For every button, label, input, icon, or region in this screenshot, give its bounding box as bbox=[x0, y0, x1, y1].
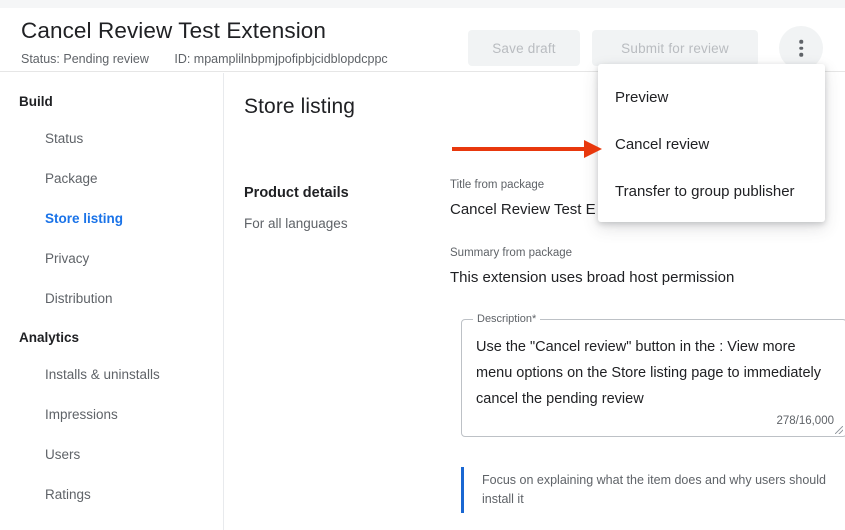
menu-item-cancel-review[interactable]: Cancel review bbox=[598, 121, 825, 168]
sidebar-group-analytics: Analytics bbox=[0, 327, 223, 355]
description-character-counter: 278/16,000 bbox=[776, 415, 834, 427]
sidebar-item-store-listing[interactable]: Store listing bbox=[0, 199, 223, 239]
save-draft-button[interactable]: Save draft bbox=[468, 30, 580, 66]
title-field-value: Cancel Review Test E bbox=[450, 201, 596, 218]
description-field-value[interactable]: Use the "Cancel review" button in the : … bbox=[476, 334, 828, 412]
submit-for-review-button[interactable]: Submit for review bbox=[592, 30, 758, 66]
description-hint: Focus on explaining what the item does a… bbox=[461, 467, 845, 513]
extension-title: Cancel Review Test Extension bbox=[21, 18, 326, 44]
sidebar-group-build: Build bbox=[0, 91, 223, 119]
extension-meta: Status: Pending review ID: mpamplilnbpmj… bbox=[21, 52, 388, 66]
page-title: Store listing bbox=[244, 95, 355, 119]
sidebar-item-package[interactable]: Package bbox=[0, 159, 223, 199]
sidebar-item-ratings[interactable]: Ratings bbox=[0, 475, 223, 515]
page-header: Cancel Review Test Extension Status: Pen… bbox=[0, 8, 845, 72]
sidebar-item-users[interactable]: Users bbox=[0, 435, 223, 475]
summary-field-value: This extension uses broad host permissio… bbox=[450, 269, 734, 286]
sidebar-item-impressions[interactable]: Impressions bbox=[0, 395, 223, 435]
sidebar-nav: Build Status Package Store listing Priva… bbox=[0, 73, 224, 530]
sidebar-item-privacy[interactable]: Privacy bbox=[0, 239, 223, 279]
product-details-heading: Product details bbox=[244, 185, 349, 201]
description-field[interactable]: Description* Use the "Cancel review" but… bbox=[461, 319, 845, 437]
overflow-menu: Preview Cancel review Transfer to group … bbox=[598, 64, 825, 222]
product-details-subtitle: For all languages bbox=[244, 216, 348, 231]
extension-id-text: ID: mpamplilnbpmjpofipbjcidblopdcppc bbox=[174, 52, 387, 66]
description-field-label: Description* bbox=[473, 313, 540, 325]
menu-item-transfer-to-group-publisher[interactable]: Transfer to group publisher bbox=[598, 168, 825, 215]
window-top-strip bbox=[0, 0, 845, 8]
title-field-caption: Title from package bbox=[450, 179, 544, 191]
more-vert-icon bbox=[799, 40, 803, 57]
resize-handle-icon[interactable] bbox=[835, 426, 843, 434]
status-text: Status: Pending review bbox=[21, 52, 149, 66]
summary-field-caption: Summary from package bbox=[450, 247, 572, 259]
sidebar-item-status[interactable]: Status bbox=[0, 119, 223, 159]
app-root: Cancel Review Test Extension Status: Pen… bbox=[0, 0, 845, 530]
menu-item-preview[interactable]: Preview bbox=[598, 74, 825, 121]
sidebar-item-distribution[interactable]: Distribution bbox=[0, 279, 223, 319]
sidebar-item-installs-uninstalls[interactable]: Installs & uninstalls bbox=[0, 355, 223, 395]
